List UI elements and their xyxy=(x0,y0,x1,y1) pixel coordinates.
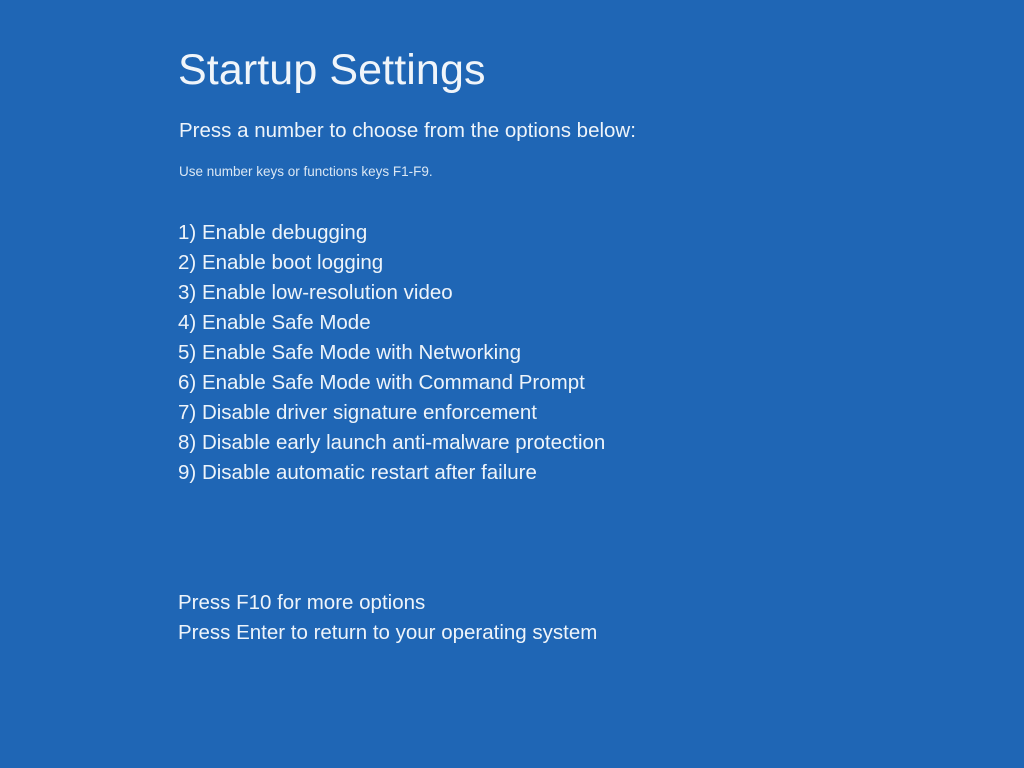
option-label: Enable debugging xyxy=(202,221,367,244)
list-item[interactable]: 7) Disable driver signature enforcement xyxy=(178,398,605,428)
page-title: Startup Settings xyxy=(178,44,486,96)
list-item[interactable]: 3) Enable low-resolution video xyxy=(178,278,605,308)
startup-options-list: 1) Enable debugging 2) Enable boot loggi… xyxy=(178,218,605,488)
option-key: 3) xyxy=(178,281,196,304)
option-key: 8) xyxy=(178,431,196,454)
option-key: 2) xyxy=(178,251,196,274)
option-key: 6) xyxy=(178,371,196,394)
list-item[interactable]: 5) Enable Safe Mode with Networking xyxy=(178,338,605,368)
option-key: 7) xyxy=(178,401,196,424)
option-label: Disable early launch anti-malware protec… xyxy=(202,431,605,454)
option-label: Enable boot logging xyxy=(202,251,383,274)
option-label: Enable low-resolution video xyxy=(202,281,453,304)
option-label: Disable automatic restart after failure xyxy=(202,461,537,484)
startup-settings-screen: Startup Settings Press a number to choos… xyxy=(0,0,1024,768)
option-label: Enable Safe Mode with Networking xyxy=(202,341,521,364)
option-key: 1) xyxy=(178,221,196,244)
option-key: 4) xyxy=(178,311,196,334)
more-options-action[interactable]: Press F10 for more options xyxy=(178,588,597,618)
keyboard-hint-text: Use number keys or functions keys F1-F9. xyxy=(179,163,433,181)
footer-actions: Press F10 for more options Press Enter t… xyxy=(178,588,597,648)
option-label: Enable Safe Mode with Command Prompt xyxy=(202,371,585,394)
list-item[interactable]: 2) Enable boot logging xyxy=(178,248,605,278)
option-label: Disable driver signature enforcement xyxy=(202,401,537,424)
list-item[interactable]: 8) Disable early launch anti-malware pro… xyxy=(178,428,605,458)
option-label: Enable Safe Mode xyxy=(202,311,371,334)
option-key: 5) xyxy=(178,341,196,364)
return-to-os-action[interactable]: Press Enter to return to your operating … xyxy=(178,618,597,648)
instruction-subtitle: Press a number to choose from the option… xyxy=(179,118,636,144)
list-item[interactable]: 6) Enable Safe Mode with Command Prompt xyxy=(178,368,605,398)
list-item[interactable]: 9) Disable automatic restart after failu… xyxy=(178,458,605,488)
list-item[interactable]: 1) Enable debugging xyxy=(178,218,605,248)
option-key: 9) xyxy=(178,461,196,484)
list-item[interactable]: 4) Enable Safe Mode xyxy=(178,308,605,338)
